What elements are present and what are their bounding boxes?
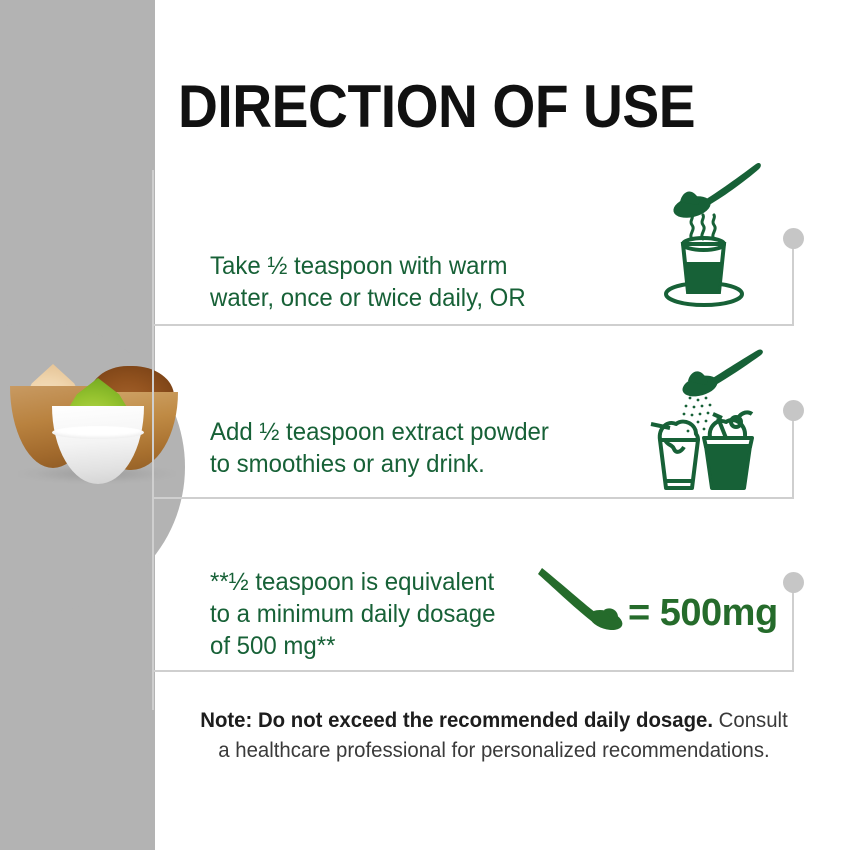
step-1-line-2: water, once or twice daily, OR — [210, 282, 526, 314]
step-2-line-2: to smoothies or any drink. — [210, 448, 549, 480]
step-2-text: Add ½ teaspoon extract powder to smoothi… — [210, 416, 549, 480]
page-title: DIRECTION OF USE — [178, 72, 695, 141]
footer-note: Note: Do not exceed the recommended dail… — [193, 706, 794, 766]
powder-bowls-image — [8, 372, 186, 494]
note-left-edge — [152, 670, 154, 710]
step-3-text: **½ teaspoon is equivalent to a minimum … — [210, 566, 495, 662]
row-2-left-edge — [152, 324, 154, 499]
spoon-sprinkling-over-smoothies-icon — [648, 348, 788, 498]
row-2-right-connector — [792, 418, 794, 499]
row-1-marker-dot — [783, 228, 804, 249]
step-3-line-1: **½ teaspoon is equivalent — [210, 566, 495, 598]
white-bowl-rim — [52, 426, 144, 439]
row-1-right-connector — [792, 245, 794, 326]
footer-note-bold: Note: Do not exceed the recommended dail… — [200, 709, 713, 732]
spoon-over-steaming-glass-icon — [660, 148, 780, 308]
row-1-divider — [152, 324, 794, 326]
step-3-line-3: of 500 mg** — [210, 630, 495, 662]
green-powder-white-bowl — [52, 406, 144, 484]
step-3-line-2: to a minimum daily dosage — [210, 598, 495, 630]
step-1-line-1: Take ½ teaspoon with warm — [210, 250, 526, 282]
row-3-marker-dot — [783, 572, 804, 593]
row-3-divider — [152, 670, 794, 672]
equivalence-label: = 500mg — [628, 592, 778, 635]
step-1-text: Take ½ teaspoon with warm water, once or… — [210, 250, 526, 314]
white-bowl-basin — [52, 406, 144, 484]
row-3-right-connector — [792, 590, 794, 672]
row-3-left-edge — [152, 497, 154, 672]
row-1-left-edge — [152, 170, 154, 326]
direction-of-use-infographic: DIRECTION OF USE Take ½ teaspoon with wa… — [0, 0, 850, 850]
step-2-line-1: Add ½ teaspoon extract powder — [210, 416, 549, 448]
